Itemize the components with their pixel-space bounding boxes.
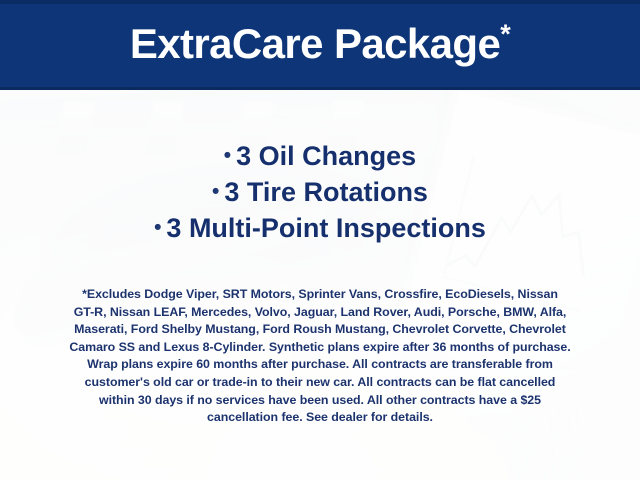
list-item: •3 Tire Rotations	[24, 174, 616, 210]
bullet-icon: •	[154, 216, 161, 239]
disclaimer-line: GT-R, Nissan LEAF, Mercedes, Volvo, Jagu…	[22, 304, 618, 322]
page-title-asterisk: *	[500, 19, 510, 49]
disclaimer-line: Maserati, Ford Shelby Mustang, Ford Rous…	[22, 321, 618, 339]
disclaimer-line: cancellation fee. See dealer for details…	[22, 409, 618, 427]
header-bar: ExtraCare Package*	[0, 0, 640, 90]
benefits-list: •3 Oil Changes •3 Tire Rotations •3 Mult…	[0, 138, 640, 246]
extracare-package-banner: ExtraCare Package* •3 Oil Changes •3 Tir…	[0, 0, 640, 480]
list-item: •3 Multi-Point Inspections	[24, 210, 616, 246]
benefit-label: 3 Multi-Point Inspections	[166, 213, 486, 243]
benefit-label: 3 Oil Changes	[236, 141, 416, 171]
disclaimer-line: Wrap plans expire 60 months after purcha…	[22, 356, 618, 374]
disclaimer-text: *Excludes Dodge Viper, SRT Motors, Sprin…	[0, 286, 640, 427]
benefit-label: 3 Tire Rotations	[224, 177, 428, 207]
disclaimer-line: customer's old car or trade-in to their …	[22, 374, 618, 392]
disclaimer-line: *Excludes Dodge Viper, SRT Motors, Sprin…	[22, 286, 618, 304]
disclaimer-line: within 30 days if no services have been …	[22, 392, 618, 410]
bullet-icon: •	[224, 144, 231, 167]
bullet-icon: •	[212, 180, 219, 203]
page-title: ExtraCare Package*	[130, 23, 510, 69]
disclaimer-line: Camaro SS and Lexus 8-Cylinder. Syntheti…	[22, 339, 618, 357]
list-item: •3 Oil Changes	[24, 138, 616, 174]
page-title-text: ExtraCare Package	[130, 20, 500, 67]
